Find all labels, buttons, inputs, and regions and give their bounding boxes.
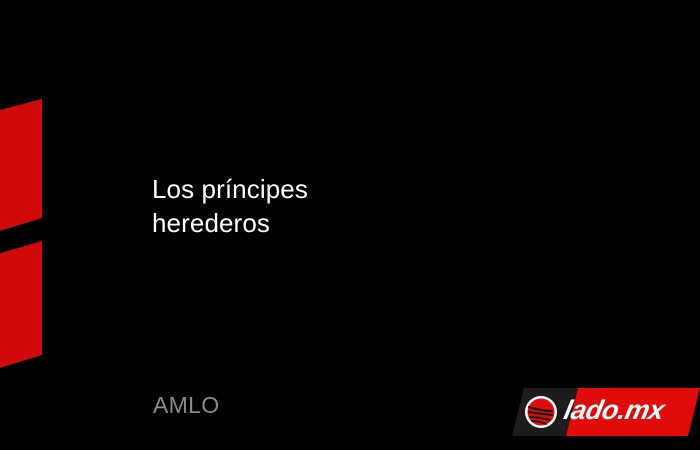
lado-bird-circle-icon (525, 396, 557, 428)
red-chevron-mark (0, 0, 120, 450)
page-title: Los príncipes herederos (152, 172, 482, 240)
category-label[interactable]: AMLO (153, 391, 219, 419)
site-logo[interactable]: lado.mx (508, 385, 700, 439)
article-card: Los príncipes herederos AMLO lado.mx (0, 0, 700, 450)
chevron-shape-top (0, 99, 42, 240)
chevron-shape-bottom (0, 241, 42, 377)
logo-wordmark: lado.mx (561, 394, 667, 426)
